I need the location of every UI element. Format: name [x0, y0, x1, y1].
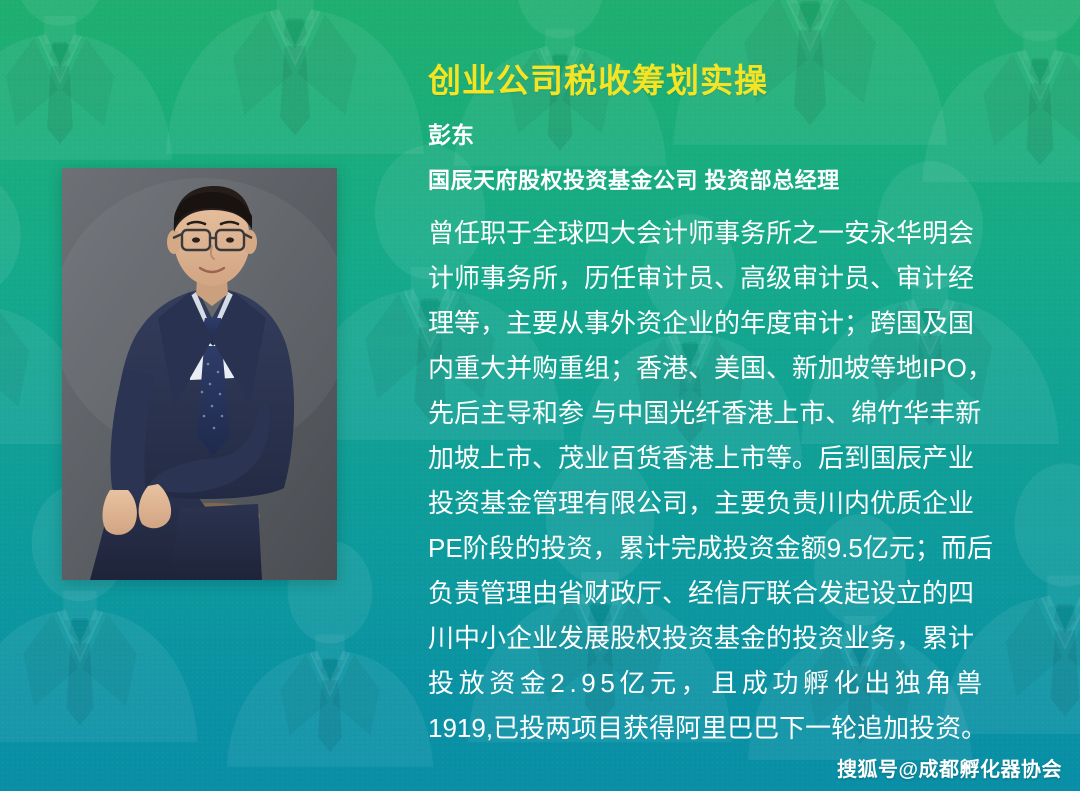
bio-line: 内重大并购重组；香港、美国、新加坡等地IPO，	[428, 346, 1038, 391]
bio-line: 川中小企业发展股权投资基金的投资业务，累计	[428, 616, 1038, 661]
bio-line: 计师事务所，历任审计员、高级审计员、审计经	[428, 256, 1038, 301]
presentation-slide: 创业公司税收筹划实操 彭东 国辰天府股权投资基金公司 投资部总经理 曾任职于全球…	[0, 0, 1080, 791]
bio-line: PE阶段的投资，累计完成投资金额9.5亿元；而后	[428, 526, 1038, 571]
bio-line: 理等，主要从事外资企业的年度审计；跨国及国	[428, 301, 1038, 346]
bio-line: 曾任职于全球四大会计师事务所之一安永华明会	[428, 211, 1038, 256]
watermark: 搜狐号@成都孵化器协会	[837, 757, 1062, 783]
bio-line: 投放资金2.95亿元，且成功孵化出独角兽	[428, 661, 1038, 706]
presenter-portrait-photo	[62, 168, 337, 580]
bio-line: 1919,已投两项目获得阿里巴巴下一轮追加投资。	[428, 706, 1038, 751]
presenter-role: 国辰天府股权投资基金公司 投资部总经理	[428, 164, 840, 198]
bio-line: 投资基金管理有限公司，主要负责川内优质企业	[428, 481, 1038, 526]
presenter-biography: 曾任职于全球四大会计师事务所之一安永华明会 计师事务所，历任审计员、高级审计员、…	[428, 211, 1038, 751]
slide-text-content: 创业公司税收筹划实操 彭东 国辰天府股权投资基金公司 投资部总经理 曾任职于全球…	[428, 0, 1038, 791]
bio-line: 负责管理由省财政厅、经信厅联合发起设立的四	[428, 571, 1038, 616]
presenter-name: 彭东	[428, 118, 474, 152]
page-title: 创业公司税收筹划实操	[428, 60, 768, 102]
bio-line: 加坡上市、茂业百货香港上市等。后到国辰产业	[428, 436, 1038, 481]
bio-line: 先后主导和参 与中国光纤香港上市、绵竹华丰新	[428, 391, 1038, 436]
